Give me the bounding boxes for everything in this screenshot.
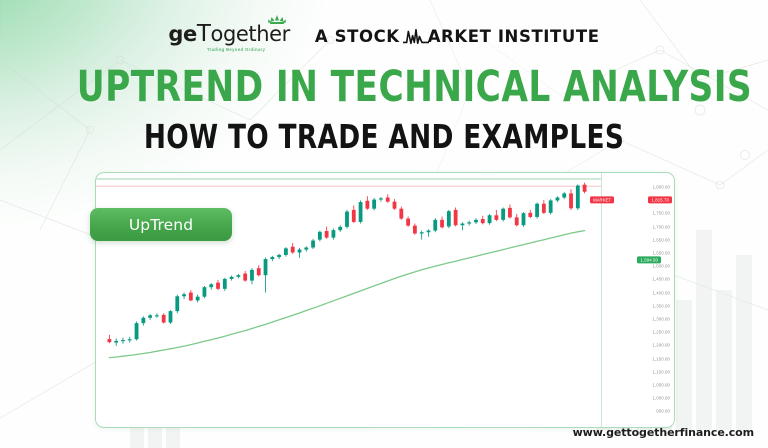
price-tick-label: 1,550.00 [652, 251, 670, 256]
brand-logo-text: geTogether [168, 23, 290, 46]
price-tick-label: 1,250.00 [652, 330, 670, 335]
crown-icon [267, 14, 287, 26]
price-tick-label: 1,150.00 [652, 356, 670, 361]
uptrend-badge-label: UpTrend [129, 216, 193, 234]
price-tick-label: 1,450.00 [652, 277, 670, 282]
price-tick-label: 1,400.00 [652, 290, 670, 295]
symbol-badge: MARKET [590, 196, 614, 203]
poster-root: geTogether Trading Beyond Ordinary A STO… [0, 0, 768, 448]
brand-logo-cap: T [197, 21, 211, 47]
price-tick-label: 1,800.00 [652, 185, 670, 190]
price-tick-label: 1,650.00 [652, 237, 670, 242]
price-tick-label: 1,500.00 [652, 264, 670, 269]
pulse-line-icon [403, 28, 429, 45]
footer-website-url[interactable]: www.gettogetherfinance.com [573, 426, 754, 439]
brand-logo[interactable]: geTogether Trading Beyond Ordinary [168, 20, 290, 52]
institute-title: A STOCK ARKET INSTITUTE [315, 27, 600, 46]
price-tick-label: 1,350.00 [652, 303, 670, 308]
institute-title-post: ARKET INSTITUTE [428, 27, 600, 46]
price-tick-label: 1,200.00 [652, 343, 670, 348]
page-subtitle: HOW TO TRADE AND EXAMPLES [77, 120, 691, 153]
moving-average-badge: 1,594.50 [637, 256, 661, 263]
uptrend-badge: UpTrend [90, 208, 232, 241]
price-tick-label: 1,300.00 [652, 317, 670, 322]
brand-tagline: Trading Beyond Ordinary [207, 48, 265, 52]
price-scale-axis[interactable]: 1,800.001,800.001,750.001,700.001,650.00… [601, 173, 674, 427]
last-price-badge: 1,815.70 [648, 196, 672, 203]
page-title: UPTREND IN TECHNICAL ANALYSIS [77, 66, 691, 109]
institute-title-pre: A STOCK [315, 27, 400, 46]
price-tick-label: 1,750.00 [652, 211, 670, 216]
price-tick-label: 1,050.00 [652, 383, 670, 388]
brand-logo-prefix: ge [168, 22, 196, 46]
price-tick-label: 1,700.00 [652, 224, 670, 229]
price-tick-label: 1,000.00 [652, 396, 670, 401]
price-tick-label: 950.00 [656, 409, 670, 414]
header: geTogether Trading Beyond Ordinary A STO… [0, 16, 768, 56]
price-tick-label: 1,100.00 [652, 369, 670, 374]
